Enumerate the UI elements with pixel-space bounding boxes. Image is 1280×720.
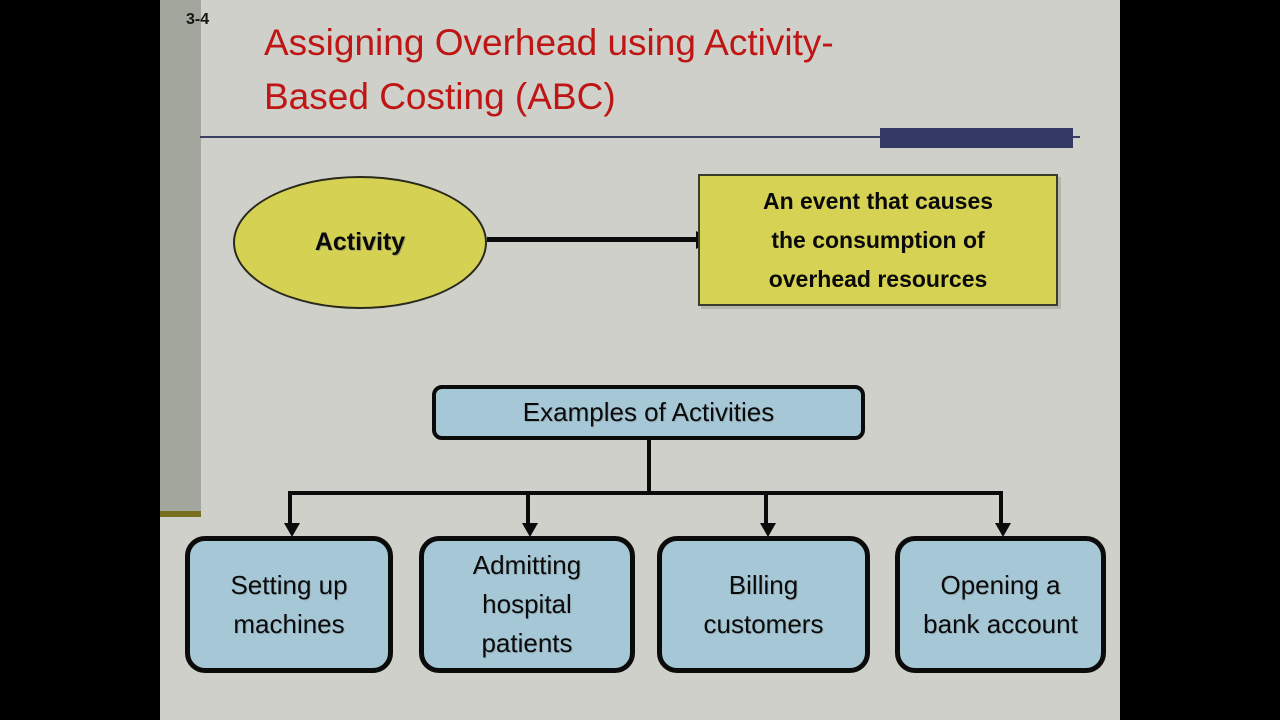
tree-horizontal-connector xyxy=(288,491,1003,495)
tree-branch-3-arrow-head-icon xyxy=(760,523,776,537)
activity-definition-line-3: overhead resources xyxy=(769,260,988,299)
tree-stem-connector xyxy=(647,440,651,493)
slide-left-accent-band-foot xyxy=(160,511,201,517)
activity-definition-line-2: the consumption of xyxy=(771,221,984,260)
example-box-1: Setting up machines xyxy=(185,536,393,673)
title-divider-accent-block xyxy=(880,128,1073,148)
tree-branch-4-arrow-head-icon xyxy=(995,523,1011,537)
slide-number: 3-4 xyxy=(186,11,209,29)
example-box-3: Billing customers xyxy=(657,536,870,673)
tree-branch-2-arrow-head-icon xyxy=(522,523,538,537)
slide-left-accent-band xyxy=(160,0,201,511)
examples-header-box: Examples of Activities xyxy=(432,385,865,440)
examples-header-label: Examples of Activities xyxy=(523,397,774,428)
activity-definition-box: An event that causes the consumption of … xyxy=(698,174,1058,306)
example-box-3-label: Billing customers xyxy=(704,566,824,644)
example-box-4-label: Opening a bank account xyxy=(923,566,1078,644)
example-box-2: Admitting hospital patients xyxy=(419,536,635,673)
page-title: Assigning Overhead using Activity- Based… xyxy=(264,16,1054,124)
tree-branch-3 xyxy=(764,491,768,525)
activity-definition-arrow-line xyxy=(487,237,702,242)
presentation-slide: 3-4 Assigning Overhead using Activity- B… xyxy=(160,0,1120,720)
tree-branch-4 xyxy=(999,491,1003,525)
example-box-1-label: Setting up machines xyxy=(230,566,347,644)
activity-ellipse-label: Activity xyxy=(315,228,405,257)
tree-branch-2 xyxy=(526,491,530,525)
screen: 3-4 Assigning Overhead using Activity- B… xyxy=(0,0,1280,720)
example-box-2-label: Admitting hospital patients xyxy=(473,546,581,663)
example-box-4: Opening a bank account xyxy=(895,536,1106,673)
activity-ellipse: Activity xyxy=(233,176,487,309)
tree-branch-1-arrow-head-icon xyxy=(284,523,300,537)
activity-definition-line-1: An event that causes xyxy=(763,182,993,221)
tree-branch-1 xyxy=(288,491,292,525)
